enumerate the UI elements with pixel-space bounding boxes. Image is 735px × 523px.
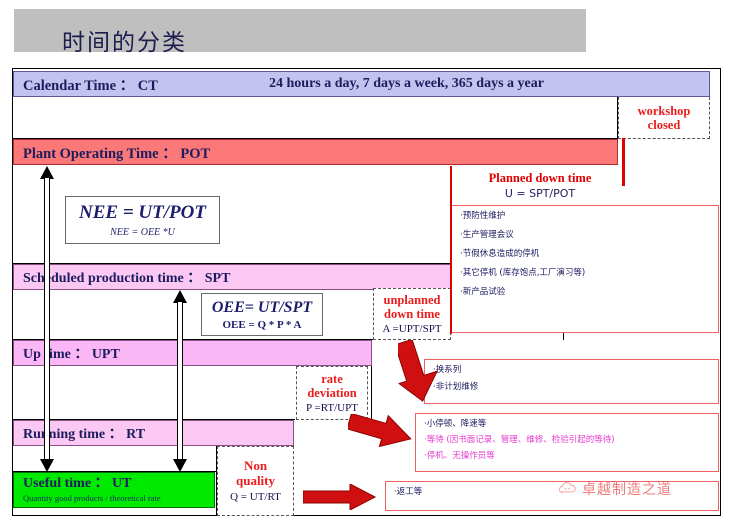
column-wall <box>371 366 372 420</box>
list-item: ·其它停机 (库存饱点,工厂演习等) <box>460 269 710 278</box>
title-banner: 时间的分类 <box>14 9 586 52</box>
list-item: ·小停顿、降速等 <box>424 420 710 429</box>
loss-unplanned-line2: down time <box>384 307 440 321</box>
bar-calendar-time: Calendar Time ： CT 24 hours a day, 7 day… <box>13 71 710 97</box>
useful-time-subtitle: Quantity good products / theoretical rat… <box>23 493 161 503</box>
loss-unplanned-down-time: unplanned down time A =UPT/SPT <box>373 288 451 340</box>
speed-loss-list: ·小停顿、降速等 ·等待 (因书面记录、管理、维修、检验引起的等待) ·停机、无… <box>415 413 719 472</box>
slide-canvas: 时间的分类 Calendar Time ： CT 24 hours a day,… <box>0 0 735 523</box>
red-arrow-down-right-icon <box>398 340 438 402</box>
arrowhead-down-icon <box>40 459 54 472</box>
planned-downtime-title: Planned down time <box>455 171 625 186</box>
loss-workshop-closed: workshop closed <box>618 97 710 139</box>
bar-plant-operating-time: Plant Operating Time ： POT <box>13 139 618 165</box>
unplanned-downtime-list: ·换系列 ·非计划维修 <box>424 359 719 404</box>
list-item: ·停机、无操作员等 <box>424 452 710 461</box>
formula-oee-sub: OEE = Q * P * A <box>222 319 301 331</box>
loss-rate-formula: P =RT/UPT <box>306 402 358 414</box>
loss-nonquality-line1: Non <box>244 459 267 474</box>
loss-rate-line1: rate <box>321 372 343 386</box>
bar-up-time: Up time ： UPT <box>13 340 372 366</box>
watermark-text: 卓越制造之道 <box>582 479 672 499</box>
loss-nonquality-formula: Q = UT/RT <box>230 491 281 503</box>
arrow-nee-span <box>37 166 57 472</box>
list-item: ·生产管理会议 <box>460 231 710 240</box>
bar-label-calendar-time: Calendar Time ： CT <box>23 74 158 95</box>
arrowhead-down-icon <box>173 459 187 472</box>
planned-downtime-list: ·预防性维护 ·生产管理会议 ·节假休息造成的停机 ·其它停机 (库存饱点,工厂… <box>451 205 719 333</box>
loss-rate-line2: deviation <box>307 386 356 400</box>
list-item: ·节假休息造成的停机 <box>460 250 710 259</box>
bar-label-plant-operating-time: Plant Operating Time ： POT <box>23 142 210 163</box>
loss-rate-deviation: rate deviation P =RT/UPT <box>296 366 368 420</box>
bar-useful-time: Useful time ： UT Quantity good products … <box>13 472 215 508</box>
bar-label-useful-time: Useful time ： UT <box>23 477 132 492</box>
planned-downtime-formula: U = SPT/POT <box>455 187 625 200</box>
formula-box-nee: NEE = UT/POT NEE = OEE *U <box>65 196 220 244</box>
list-item: ·新产品试验 <box>460 288 710 297</box>
page-title: 时间的分类 <box>62 23 187 57</box>
loss-workshop-line2: closed <box>648 118 681 132</box>
planned-downtime-title-group: Planned down time U = SPT/POT <box>455 171 625 200</box>
loss-workshop-line1: workshop <box>638 104 691 118</box>
loss-unplanned-line1: unplanned <box>384 293 441 307</box>
red-arrow-right-icon <box>303 484 377 510</box>
formula-nee-main: NEE = UT/POT <box>79 202 206 224</box>
list-item: ·等待 (因书面记录、管理、维修、检验引起的等待) <box>424 436 710 445</box>
list-item: ·非计划维修 <box>433 383 710 392</box>
arrow-oee-span <box>170 290 190 472</box>
formula-oee-main: OEE= UT/SPT <box>212 299 312 317</box>
red-arrow-right-down-icon <box>348 414 414 458</box>
formula-nee-sub: NEE = OEE *U <box>110 227 175 238</box>
planned-downtime-left-rail <box>450 166 452 334</box>
watermark: 卓越制造之道 <box>558 479 672 499</box>
list-item: ·换系列 <box>433 366 710 375</box>
calendar-time-detail: 24 hours a day, 7 days a week, 365 days … <box>269 76 544 92</box>
loss-nonquality-line2: quality <box>236 474 275 489</box>
formula-box-oee: OEE= UT/SPT OEE = Q * P * A <box>201 293 323 336</box>
loss-non-quality: Non quality Q = UT/RT <box>217 446 294 516</box>
cloud-face-icon <box>558 480 577 499</box>
list-item: ·预防性维护 <box>460 212 710 221</box>
loss-unplanned-formula: A =UPT/SPT <box>382 323 441 335</box>
